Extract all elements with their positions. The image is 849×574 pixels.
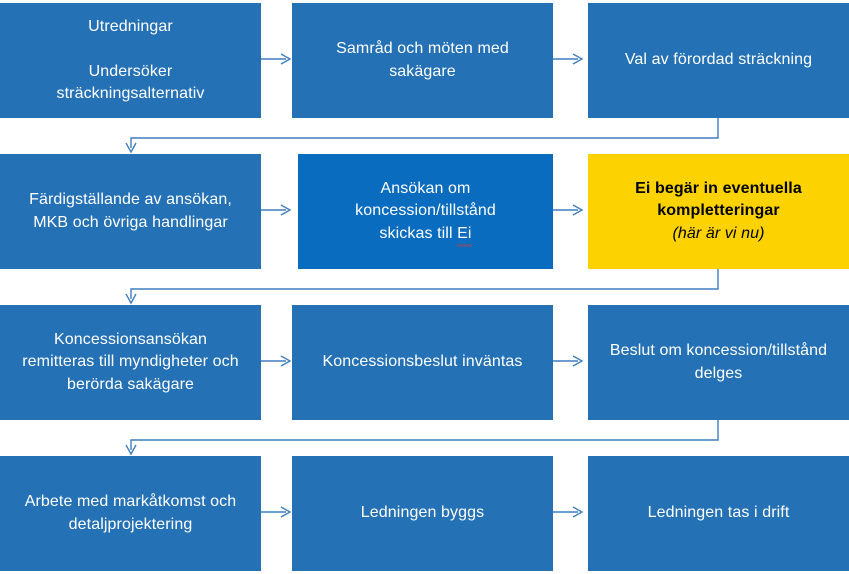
process-box-val-av-forordad-strackning[interactable]: Val av förordad sträckning: [588, 3, 849, 118]
box-line: berörda sakägare: [10, 374, 251, 396]
box-line-with-spellcheck: skickas till Ei: [308, 223, 543, 245]
box-line: Samråd och möten med: [302, 38, 543, 60]
arrow-koncessionsbeslut-to-beslut-delges: [553, 354, 584, 368]
process-box-beslut-delges[interactable]: Beslut om koncession/tillstånd delges: [588, 305, 849, 420]
elbow-connector-row1-to-row2: [120, 118, 735, 158]
box-line: Koncessionsbeslut inväntas: [302, 351, 543, 373]
process-box-label: Ledningen tas i drift: [598, 502, 839, 524]
process-box-koncessionsbeslut-invantas[interactable]: Koncessionsbeslut inväntas: [292, 305, 553, 420]
box-line: kompletteringar: [598, 200, 839, 222]
box-line: delges: [598, 363, 839, 385]
spellcheck-word: Ei: [457, 223, 471, 245]
elbow-connector-row2-to-row3: [120, 269, 735, 309]
process-box-label: Ledningen byggs: [302, 502, 543, 524]
box-line-prefix: skickas till: [379, 225, 457, 242]
box-line: Arbete med markåtkomst och: [10, 491, 251, 513]
process-box-ledningen-i-drift[interactable]: Ledningen tas i drift: [588, 456, 849, 571]
process-box-label: Ansökan om koncession/tillstånd skickas …: [308, 178, 543, 244]
arrow-remitteras-to-koncessionsbeslut: [261, 354, 292, 368]
box-line: Ansökan om: [308, 178, 543, 200]
arrow-ansokan-to-kompletteringar: [553, 203, 584, 217]
arrow-utredningar-to-samrad: [261, 52, 292, 66]
box-line: Ei begär in eventuella: [598, 178, 839, 200]
box-line: Ledningen byggs: [302, 502, 543, 524]
box-line-spacer: [10, 38, 251, 60]
box-line: Ledningen tas i drift: [598, 502, 839, 524]
process-box-label: Koncessionsbeslut inväntas: [302, 351, 543, 373]
process-box-remitteras[interactable]: Koncessionsansökan remitteras till myndi…: [0, 305, 261, 420]
process-box-label: Utredningar Undersöker sträckningsaltern…: [10, 16, 251, 104]
box-line: Koncessionsansökan: [10, 329, 251, 351]
process-box-ei-begar-kompletteringar-current[interactable]: Ei begär in eventuella kompletteringar (…: [588, 154, 849, 269]
box-line: Färdigställande av ansökan,: [10, 189, 251, 211]
box-line: koncession/tillstånd: [308, 200, 543, 222]
elbow-connector-row3-to-row4: [120, 420, 735, 460]
box-line: detaljprojektering: [10, 514, 251, 536]
box-line: MKB och övriga handlingar: [10, 212, 251, 234]
box-line: Beslut om koncession/tillstånd: [598, 340, 839, 362]
current-step-note: (här är vi nu): [598, 223, 839, 245]
arrow-samrad-to-val: [553, 52, 584, 66]
box-line: sträckningsalternativ: [10, 83, 251, 105]
process-box-label: Beslut om koncession/tillstånd delges: [598, 340, 839, 384]
arrow-byggs-to-drift: [553, 505, 584, 519]
box-line: Val av förordad sträckning: [598, 49, 839, 71]
box-line: sakägare: [302, 61, 543, 83]
process-box-markatkomst[interactable]: Arbete med markåtkomst och detaljprojekt…: [0, 456, 261, 571]
process-box-label: Koncessionsansökan remitteras till myndi…: [10, 329, 251, 395]
process-box-samrad[interactable]: Samråd och möten med sakägare: [292, 3, 553, 118]
process-box-label: Arbete med markåtkomst och detaljprojekt…: [10, 491, 251, 535]
process-box-ledningen-byggs[interactable]: Ledningen byggs: [292, 456, 553, 571]
arrow-markatkomst-to-byggs: [261, 505, 292, 519]
process-box-fardigstallande-ansokan[interactable]: Färdigställande av ansökan, MKB och övri…: [0, 154, 261, 269]
process-box-utredningar[interactable]: Utredningar Undersöker sträckningsaltern…: [0, 3, 261, 118]
process-box-label: Samråd och möten med sakägare: [302, 38, 543, 82]
flowchart-canvas: Utredningar Undersöker sträckningsaltern…: [0, 0, 849, 574]
box-line: Utredningar: [10, 16, 251, 38]
process-box-ansokan-koncession[interactable]: Ansökan om koncession/tillstånd skickas …: [298, 154, 553, 269]
box-line: Undersöker: [10, 61, 251, 83]
box-line: remitteras till myndigheter och: [10, 351, 251, 373]
process-box-label: Ei begär in eventuella kompletteringar (…: [598, 178, 839, 244]
arrow-fardigstallande-to-ansokan: [261, 203, 292, 217]
process-box-label: Val av förordad sträckning: [598, 49, 839, 71]
process-box-label: Färdigställande av ansökan, MKB och övri…: [10, 189, 251, 233]
